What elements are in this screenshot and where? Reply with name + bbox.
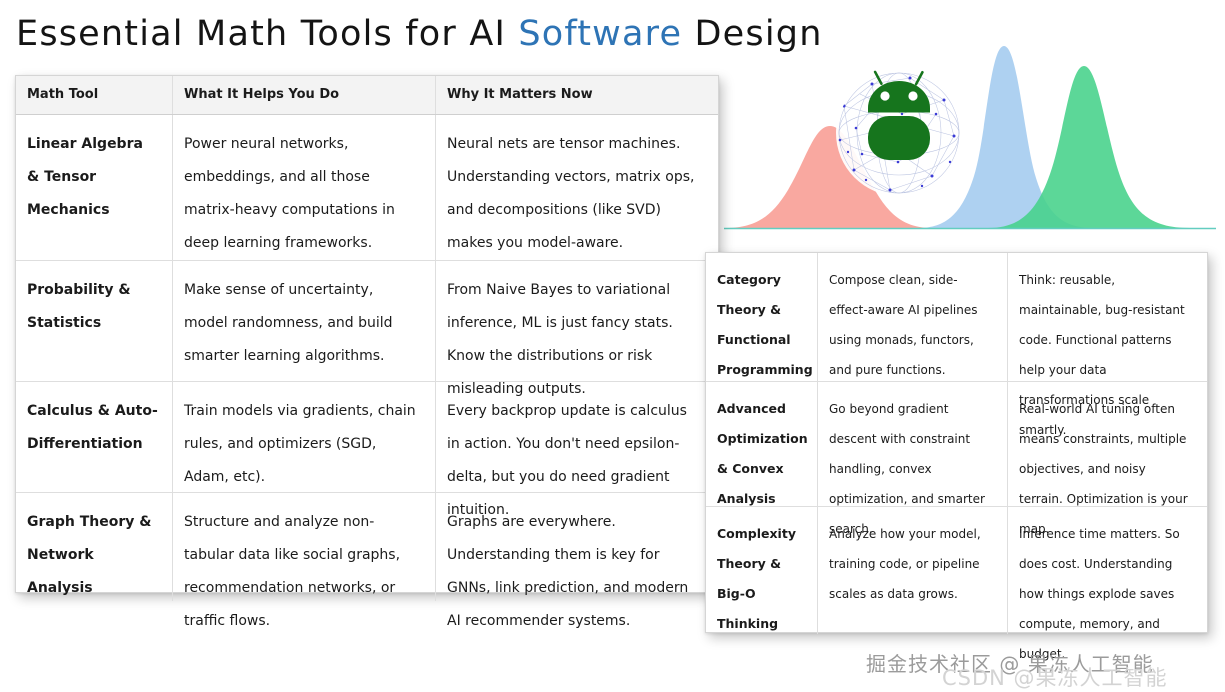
table-row: Graph Theory & Network Analysis Structur… bbox=[16, 493, 718, 601]
table-header-row: Math Tool What It Helps You Do Why It Ma… bbox=[16, 76, 718, 115]
cell-helps: Power neural networks, embeddings, and a… bbox=[173, 115, 436, 260]
table-body: Linear Algebra & Tensor Mechanics Power … bbox=[16, 115, 718, 601]
table-row: Probability & Statistics Make sense of u… bbox=[16, 261, 718, 382]
cell-tool: Advanced Optimization & Convex Analysis bbox=[706, 382, 818, 506]
cell-tool: Category Theory & Functional Programming bbox=[706, 253, 818, 381]
table-row: Advanced Optimization & Convex Analysis … bbox=[706, 382, 1207, 507]
cell-tool: Graph Theory & Network Analysis bbox=[16, 493, 173, 601]
page-title-part1: Essential Math Tools for AI bbox=[16, 14, 518, 54]
page-title-accent: Software bbox=[518, 14, 682, 54]
watermark-juejin: 掘金技术社区 @ 果冻人工智能 bbox=[866, 648, 1154, 677]
cell-matters: Think: reusable, maintainable, bug-resis… bbox=[1008, 253, 1207, 381]
cell-helps: Make sense of uncertainty, model randomn… bbox=[173, 261, 436, 381]
column-header-why-it-matters-now: Why It Matters Now bbox=[436, 76, 718, 114]
table-row: Category Theory & Functional Programming… bbox=[706, 253, 1207, 382]
cell-helps: Analyze how your model, training code, o… bbox=[818, 507, 1008, 634]
cell-matters: Neural nets are tensor machines. Underst… bbox=[436, 115, 718, 260]
cell-matters: Every backprop update is calculus in act… bbox=[436, 382, 718, 492]
page-title: Essential Math Tools for AI Software Des… bbox=[16, 8, 823, 60]
cell-tool: Calculus & Auto-Differentiation bbox=[16, 382, 173, 492]
cell-helps: Train models via gradients, chain rules,… bbox=[173, 382, 436, 492]
column-header-math-tool: Math Tool bbox=[16, 76, 173, 114]
cell-tool: Complexity Theory & Big-O Thinking bbox=[706, 507, 818, 634]
cell-helps: Structure and analyze non-tabular data l… bbox=[173, 493, 436, 601]
column-header-what-it-helps-you-do: What It Helps You Do bbox=[173, 76, 436, 114]
table-row: Calculus & Auto-Differentiation Train mo… bbox=[16, 382, 718, 493]
overlay-math-tools-table: Category Theory & Functional Programming… bbox=[705, 252, 1208, 633]
table-row: Linear Algebra & Tensor Mechanics Power … bbox=[16, 115, 718, 261]
gaussian-curves-illustration bbox=[722, 44, 1218, 246]
cell-helps: Compose clean, side-effect-aware AI pipe… bbox=[818, 253, 1008, 381]
table-row: Complexity Theory & Big-O Thinking Analy… bbox=[706, 507, 1207, 634]
cell-tool: Linear Algebra & Tensor Mechanics bbox=[16, 115, 173, 260]
cell-matters: From Naive Bayes to variational inferenc… bbox=[436, 261, 718, 381]
main-math-tools-table: Math Tool What It Helps You Do Why It Ma… bbox=[15, 75, 719, 593]
cell-helps: Go beyond gradient descent with constrai… bbox=[818, 382, 1008, 506]
cell-tool: Probability & Statistics bbox=[16, 261, 173, 381]
cell-matters: Real-world AI tuning often means constra… bbox=[1008, 382, 1207, 506]
cell-matters: Graphs are everywhere. Understanding the… bbox=[436, 493, 718, 601]
cell-matters: Inference time matters. So does cost. Un… bbox=[1008, 507, 1207, 634]
